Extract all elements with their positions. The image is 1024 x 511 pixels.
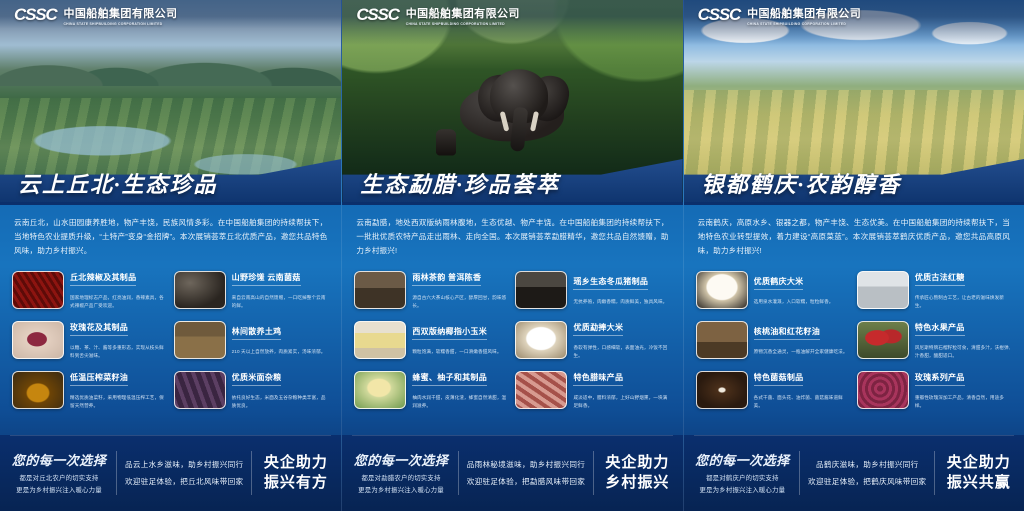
footer-divider <box>934 451 935 495</box>
footer-sub-line: 都是对鹤庆户的切实支持 <box>694 473 791 484</box>
cured-meat-photo <box>515 371 567 409</box>
footer-message-line: 品雨林秘境滋味，助乡村振兴同行 <box>467 456 585 473</box>
poster-root: CSSC 中国船舶集团有限公司 CHINA STATE SHIPBUILDING… <box>0 0 1024 511</box>
panel-heqing: CSSC 中国船舶集团有限公司 CHINA STATE SHIPBUILDING… <box>683 0 1024 511</box>
puer-tea-photo <box>354 271 406 309</box>
product-title: 优质米面杂粮 <box>232 372 282 386</box>
product-card[interactable]: 特色菌菇制品 各式干菌、面头花、油炸菌、菌菇酱味道鲜美。 <box>696 366 851 414</box>
panel-qiubei: CSSC 中国船舶集团有限公司 CHINA STATE SHIPBUILDING… <box>0 0 341 511</box>
rapeseed-oil-photo <box>12 371 64 409</box>
mushroom-photo <box>174 271 226 309</box>
product-desc: 各式干菌、面头花、油炸菌、菌菇酱味道鲜美。 <box>754 394 851 409</box>
hero-qiubei: CSSC 中国船舶集团有限公司 CHINA STATE SHIPBUILDING… <box>0 0 341 205</box>
brand-name-cn: 中国船舶集团有限公司 CHINA STATE SHIPBUILDING CORP… <box>747 5 861 26</box>
brand-name-cn: 中国船舶集团有限公司 CHINA STATE SHIPBUILDING CORP… <box>406 5 520 26</box>
hero-heqing: CSSC 中国船舶集团有限公司 CHINA STATE SHIPBUILDING… <box>684 0 1024 205</box>
product-card[interactable]: 优质米面杂粮 依托良好生态，米面及五谷杂粮种类丰富，品质优良。 <box>174 366 330 414</box>
product-card[interactable]: 优质勐捧大米 香软有弹性，口感细软，表面油光，冷饭不回生。 <box>515 316 670 364</box>
product-desc: 精选优质油菜籽，采用物理低温压榨工艺，保留天然营养。 <box>70 394 168 409</box>
product-desc: 风尼斯特牌石榴籽粒可食，清甜多汁，沃柑弹,汁香甜，酸甜适口。 <box>915 344 1012 359</box>
product-title: 雨林茶韵 普洱陈香 <box>412 272 481 286</box>
brand-logo-1: CSSC 中国船舶集团有限公司 CHINA STATE SHIPBUILDING… <box>0 0 341 30</box>
product-title: 蜂蜜、柚子和其制品 <box>412 372 487 386</box>
product-card[interactable]: 玫瑰系列产品 重瓣性玫瑰深加工产品，清香自然，用途多样。 <box>857 366 1012 414</box>
panel-mengla: CSSC 中国船舶集团有限公司 CHINA STATE SHIPBUILDING… <box>341 0 682 511</box>
product-desc: 传承匠心熬制古工艺，让古老的滋味焕发新生。 <box>915 294 1012 309</box>
footer-message-line: 品云上水乡滋味，助乡村振兴同行 <box>125 456 243 473</box>
title-ribbon-1: 云上丘北·生态珍品 <box>0 159 341 205</box>
product-title: 玫瑰系列产品 <box>915 372 965 386</box>
honey-pomelo-photo <box>354 371 406 409</box>
product-grid-2: 雨林茶韵 普洱陈香 源自古六大茶山核心产区，醇厚回甘，韵味悠长。 瑶乡生态冬瓜猪… <box>342 264 682 435</box>
footer-headline-line: 央企助力 <box>260 453 331 473</box>
footer-1: 您的每一次选择 都是对丘北农户的切实支持 更是为乡村振兴注入暖心力量 品云上水乡… <box>0 435 341 511</box>
product-title: 特色腊味产品 <box>573 372 623 386</box>
product-card[interactable]: 优质古法红糖 传承匠心熬制古工艺，让古老的滋味焕发新生。 <box>857 266 1012 314</box>
product-card[interactable]: 山野珍馐 云南菌菇 来自云南高山的自然馈赠，一口吃掉整个云南的鲜。 <box>174 266 330 314</box>
footer-headline-line: 振兴有方 <box>260 473 331 493</box>
product-title: 玫瑰花及其制品 <box>70 322 128 336</box>
sweet-corn-photo <box>354 321 406 359</box>
footer-3: 您的每一次选择 都是对鹤庆户的切实支持 更是为乡村振兴注入暖心力量 品鹤庆滋味，… <box>684 435 1024 511</box>
ribbon-underline <box>684 202 1024 205</box>
footer-handwriting: 您的每一次选择 <box>10 450 108 469</box>
brand-logo-2: CSSC 中国船舶集团有限公司 CHINA STATE SHIPBUILDING… <box>342 0 682 30</box>
heqing-rice-photo <box>696 271 748 309</box>
panel-intro-2: 云南勐腊，地处西双版纳雨林腹地，生态优越、物产丰饶。在中国船舶集团的持续帮扶下，… <box>342 205 682 264</box>
panel-title-3: 银都鹤庆·农韵醇香 <box>702 167 902 199</box>
product-card[interactable]: 低温压榨菜籽油 精选优质油菜籽，采用物理低温压榨工艺，保留天然营养。 <box>12 366 168 414</box>
fruit-photo <box>857 321 909 359</box>
footer-headline-2: 央企助力 乡村振兴 <box>602 453 673 493</box>
panel-title-1: 云上丘北·生态珍品 <box>18 167 218 199</box>
product-desc: 咸淡适中，腊料浓郁，上好山野烟熏，一块满足鲜香。 <box>573 394 670 409</box>
product-title: 丘北辣椒及其制品 <box>70 272 136 286</box>
product-grid-3: 优质鹤庆大米 选用泉水灌溉，入口软糯，粒粒鲜香。 优质古法红糖 传承匠心熬制古工… <box>684 264 1024 435</box>
panel-intro-3: 云南鹤庆，高原水乡、银器之都，物产丰饶、生态优美。在中国船舶集团的持续帮扶下，当… <box>684 205 1024 264</box>
product-card[interactable]: 蜂蜜、柚子和其制品 柚肉水润千甜，皮薄化渣，蜂蜜自然清甜，温润滋养。 <box>354 366 509 414</box>
product-title: 西双版纳椰指小玉米 <box>412 326 487 340</box>
walnut-oil-photo <box>696 321 748 359</box>
product-desc: 210 天以上自然放养，肉质紧实，汤味浓郁。 <box>232 348 330 355</box>
footer-message-line: 欢迎驻足体验，把丘北风味带回家 <box>125 473 243 490</box>
footer-headline-line: 央企助力 <box>943 453 1014 473</box>
ribbon-underline <box>0 202 341 205</box>
footer-slogan-3: 您的每一次选择 都是对鹤庆户的切实支持 更是为乡村振兴注入暖心力量 <box>694 450 791 495</box>
product-card[interactable]: 丘北辣椒及其制品 国家地理标志产品，红亮油润，香辣素具，各式辣椒产品广受欢迎。 <box>12 266 168 314</box>
footer-headline-line: 央企助力 <box>602 453 673 473</box>
product-card[interactable]: 特色腊味产品 咸淡适中，腊料浓郁，上好山野烟熏，一块满足鲜香。 <box>515 366 670 414</box>
brand-name-en: CHINA STATE SHIPBUILDING CORPORATION LIM… <box>63 22 177 26</box>
product-desc: 无抗养殖，肉嫩香糯，肉质鲜美，独具风味。 <box>573 298 670 305</box>
footer-headline-line: 乡村振兴 <box>602 473 673 493</box>
ribbon-underline <box>342 202 682 205</box>
product-title: 特色菌菇制品 <box>754 372 804 386</box>
footer-divider <box>116 451 117 495</box>
footer-slogan-2: 您的每一次选择 都是对勐腊农户的切实支持 更是为乡村振兴注入暖心力量 <box>352 450 449 495</box>
brand-name-en: CHINA STATE SHIPBUILDING CORPORATION LIM… <box>747 22 861 26</box>
product-desc: 颗粒饱满，软糯香甜，一口滑嫩香甜风味。 <box>412 348 509 355</box>
product-card[interactable]: 优质鹤庆大米 选用泉水灌溉，入口软糯，粒粒鲜香。 <box>696 266 851 314</box>
footer-message-line: 欢迎驻足体验，把鹤庆风味带回家 <box>808 473 926 490</box>
product-grid-1: 丘北辣椒及其制品 国家地理标志产品，红亮油润，香辣素具，各式辣椒产品广受欢迎。 … <box>0 264 341 435</box>
fungus-product-photo <box>696 371 748 409</box>
product-title: 核桃油和红花籽油 <box>754 326 820 340</box>
product-card[interactable]: 特色水果产品 风尼斯特牌石榴籽粒可食，清甜多汁，沃柑弹,汁香甜，酸甜适口。 <box>857 316 1012 364</box>
brown-sugar-photo <box>857 271 909 309</box>
cssc-logo-icon: CSSC <box>698 5 740 25</box>
cssc-logo-icon: CSSC <box>356 5 398 25</box>
footer-sub-line: 更是为乡村振兴注入暖心力量 <box>10 485 108 496</box>
footer-headline-3: 央企助力 振兴共赢 <box>943 453 1014 493</box>
footer-divider <box>458 451 459 495</box>
hero-mengla: CSSC 中国船舶集团有限公司 CHINA STATE SHIPBUILDING… <box>342 0 682 205</box>
product-desc: 选用泉水灌溉，入口软糯，粒粒鲜香。 <box>754 298 851 305</box>
product-card[interactable]: 雨林茶韵 普洱陈香 源自古六大茶山核心产区，醇厚回甘，韵味悠长。 <box>354 266 509 314</box>
product-card[interactable]: 玫瑰花及其制品 以糖、茶、汁、酱等多重形态，实现从枝头鲜料到舌尖滋味。 <box>12 316 168 364</box>
product-desc: 以糖、茶、汁、酱等多重形态，实现从枝头鲜料到舌尖滋味。 <box>70 344 168 359</box>
product-desc: 源自古六大茶山核心产区，醇厚回甘，韵味悠长。 <box>412 294 509 309</box>
product-title: 优质鹤庆大米 <box>754 276 804 290</box>
footer-handwriting: 您的每一次选择 <box>352 450 449 469</box>
product-card[interactable]: 林间散养土鸡 210 天以上自然放养，肉质紧实，汤味浓郁。 <box>174 316 330 364</box>
panel-intro-1: 云南丘北，山水田园康养胜地，物产丰饶，民族风情多彩。在中国船舶集团的持续帮扶下，… <box>0 205 341 264</box>
footer-message-line: 欢迎驻足体验，把勐腊风味带回家 <box>467 473 585 490</box>
footer-divider <box>251 451 252 495</box>
product-desc: 来自云南高山的自然馈赠，一口吃掉整个云南的鲜。 <box>232 294 330 309</box>
footer-divider <box>799 451 800 495</box>
brand-logo-3: CSSC 中国船舶集团有限公司 CHINA STATE SHIPBUILDING… <box>684 0 1024 30</box>
product-desc: 原物沉香全通灵，一瓶油解开全家健康吃法。 <box>754 348 851 355</box>
product-title: 特色水果产品 <box>915 322 965 336</box>
footer-headline-1: 央企助力 振兴有方 <box>260 453 331 493</box>
footer-sub-line: 更是为乡村振兴注入暖心力量 <box>352 485 449 496</box>
product-card[interactable]: 西双版纳椰指小玉米 颗粒饱满，软糯香甜，一口滑嫩香甜风味。 <box>354 316 509 364</box>
free-range-chicken-photo <box>174 321 226 359</box>
footer-handwriting: 您的每一次选择 <box>694 450 791 469</box>
product-desc: 柚肉水润千甜，皮薄化渣，蜂蜜自然清甜，温润滋养。 <box>412 394 509 409</box>
brand-name-cn: 中国船舶集团有限公司 CHINA STATE SHIPBUILDING CORP… <box>63 5 177 26</box>
footer-sub-line: 都是对勐腊农户的切实支持 <box>352 473 449 484</box>
footer-divider <box>593 451 594 495</box>
product-desc: 依托良好生态，米面及五谷杂粮种类丰富，品质优良。 <box>232 394 330 409</box>
rose-pastry-photo <box>12 321 64 359</box>
footer-sub-line: 都是对丘北农户的切实支持 <box>10 473 108 484</box>
product-title: 低温压榨菜籽油 <box>70 372 128 386</box>
footer-headline-line: 振兴共赢 <box>943 473 1014 493</box>
footer-slogan-1: 您的每一次选择 都是对丘北农户的切实支持 更是为乡村振兴注入暖心力量 <box>10 450 108 495</box>
product-card[interactable]: 瑶乡生态冬瓜猪制品 无抗养殖，肉嫩香糯，肉质鲜美，独具风味。 <box>515 266 670 314</box>
footer-2: 您的每一次选择 都是对勐腊农户的切实支持 更是为乡村振兴注入暖心力量 品雨林秘境… <box>342 435 682 511</box>
footer-message-2: 品雨林秘境滋味，助乡村振兴同行 欢迎驻足体验，把勐腊风味带回家 <box>467 456 585 490</box>
product-desc: 重瓣性玫瑰深加工产品，清香自然，用途多样。 <box>915 394 1012 409</box>
brand-name-en: CHINA STATE SHIPBUILDING CORPORATION LIM… <box>406 22 520 26</box>
panel-title-2: 生态勐腊·珍品荟萃 <box>360 167 560 199</box>
rose-series-photo <box>857 371 909 409</box>
product-title: 优质勐捧大米 <box>573 322 623 336</box>
footer-message-3: 品鹤庆滋味，助乡村振兴同行 欢迎驻足体验，把鹤庆风味带回家 <box>808 456 926 490</box>
grain-photo <box>174 371 226 409</box>
product-title: 瑶乡生态冬瓜猪制品 <box>573 276 648 290</box>
title-ribbon-3: 银都鹤庆·农韵醇香 <box>684 159 1024 205</box>
product-title: 山野珍馐 云南菌菇 <box>232 272 301 286</box>
winter-melon-pig-photo <box>515 271 567 309</box>
product-desc: 香软有弹性，口感细软，表面油光，冷饭不回生。 <box>573 344 670 359</box>
footer-message-line: 品鹤庆滋味，助乡村振兴同行 <box>808 456 926 473</box>
mengpeng-rice-photo <box>515 321 567 359</box>
product-card[interactable]: 核桃油和红花籽油 原物沉香全通灵，一瓶油解开全家健康吃法。 <box>696 316 851 364</box>
title-ribbon-2: 生态勐腊·珍品荟萃 <box>342 159 682 205</box>
footer-message-1: 品云上水乡滋味，助乡村振兴同行 欢迎驻足体验，把丘北风味带回家 <box>125 456 243 490</box>
chili-photo <box>12 271 64 309</box>
cssc-logo-icon: CSSC <box>14 5 56 25</box>
product-desc: 国家地理标志产品，红亮油润，香辣素具，各式辣椒产品广受欢迎。 <box>70 294 168 309</box>
footer-sub-line: 更是为乡村振兴注入暖心力量 <box>694 485 791 496</box>
product-title: 优质古法红糖 <box>915 272 965 286</box>
product-title: 林间散养土鸡 <box>232 326 282 340</box>
